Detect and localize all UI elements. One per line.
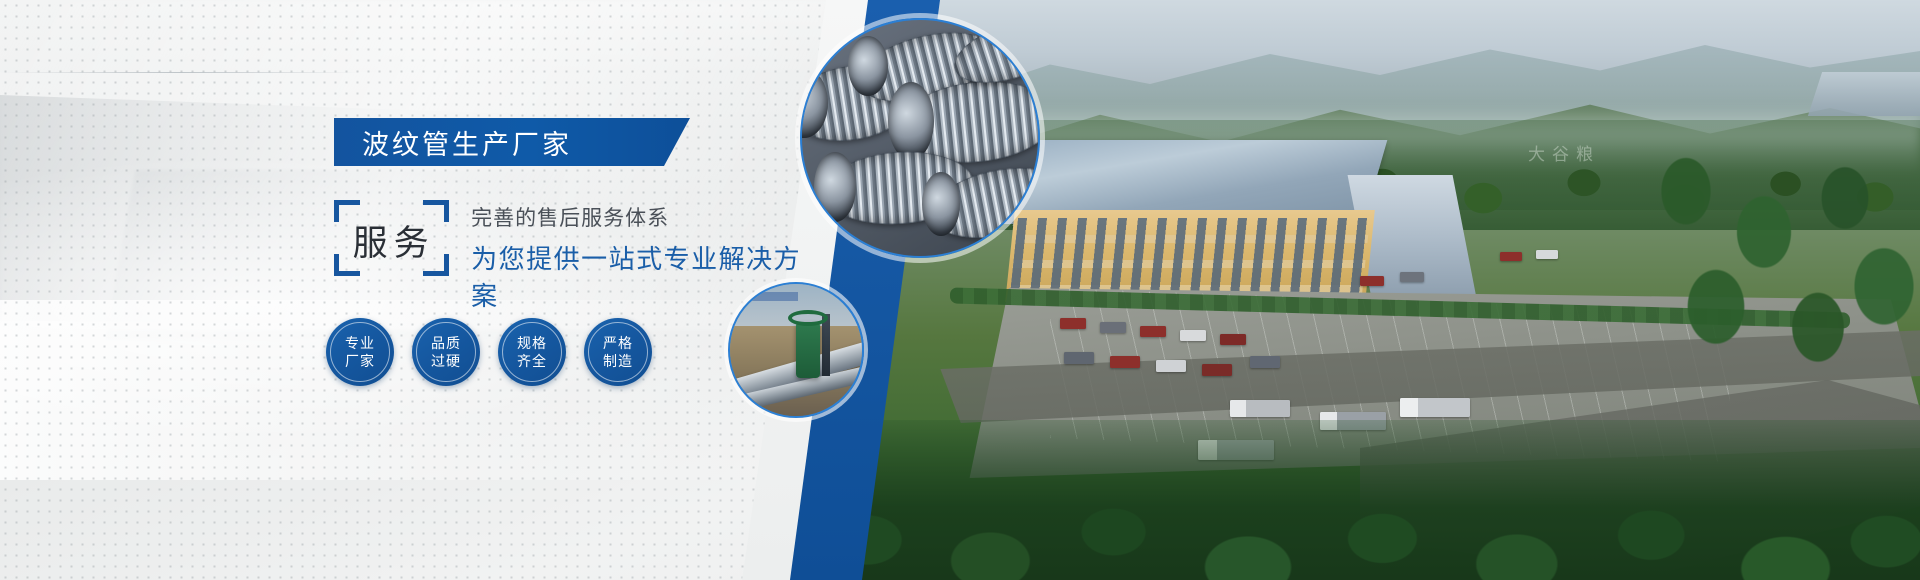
corrugated-pipe-opening [814, 152, 856, 222]
photo-vehicle [1156, 360, 1186, 372]
photo-vehicle [1110, 356, 1140, 368]
promo-banner: 大谷粮 波纹管生产厂家 [0, 0, 1920, 580]
corrugated-pipe-opening [888, 82, 934, 160]
badge-line-2: 齐全 [517, 352, 547, 370]
feature-badge-list: 专业 厂家 品质 过硬 规格 齐全 严格 制造 [326, 318, 652, 386]
photo-vehicle [1220, 334, 1246, 345]
badge-full-specifications[interactable]: 规格 齐全 [498, 318, 566, 386]
photo-right-trees [1620, 130, 1920, 470]
photo-truck [1400, 398, 1470, 417]
banner-title-bar: 波纹管生产厂家 [334, 118, 690, 166]
page-title: 波纹管生产厂家 [362, 123, 572, 162]
photo-truck [1230, 400, 1290, 417]
badge-strict-manufacturing[interactable]: 严格 制造 [584, 318, 652, 386]
valve-photo-post [822, 314, 830, 376]
service-block: 服务 完善的售后服务体系 为您提供一站式专业解决方案 [334, 196, 820, 313]
photo-vehicle [1500, 252, 1522, 261]
photo-vehicle [1100, 322, 1126, 333]
service-tagline: 为您提供一站式专业解决方案 [471, 239, 820, 313]
photo-vehicle [1140, 326, 1166, 337]
photo-vehicle [1360, 276, 1384, 286]
photo-warehouse [1808, 72, 1920, 116]
service-keyword: 服务 [353, 215, 435, 266]
photo-foreground-trees [800, 420, 1920, 580]
service-text-group: 完善的售后服务体系 为您提供一站式专业解决方案 [471, 196, 820, 313]
badge-line-1: 规格 [517, 334, 547, 352]
badge-line-1: 专业 [345, 334, 375, 352]
badge-line-1: 严格 [603, 334, 633, 352]
service-subtitle: 完善的售后服务体系 [471, 202, 820, 232]
corrugated-pipe-opening [922, 172, 960, 236]
badge-solid-quality[interactable]: 品质 过硬 [412, 318, 480, 386]
photo-vehicle [1064, 352, 1094, 364]
corrugated-pipe-opening [848, 36, 888, 96]
badge-line-2: 厂家 [345, 352, 375, 370]
badge-line-1: 品质 [431, 334, 461, 352]
badge-line-2: 过硬 [431, 352, 461, 370]
photo-vehicle [1060, 318, 1086, 329]
pipes-photo-circle [800, 18, 1040, 258]
photo-vehicle [1536, 250, 1558, 259]
photo-watermark: 大谷粮 [1528, 140, 1600, 165]
photo-vehicle [1202, 364, 1232, 376]
photo-vehicle [1180, 330, 1206, 341]
photo-factory-windows [1010, 218, 1370, 294]
banner-content: 波纹管生产厂家 服务 完善的售后服务体系 为您提供一站式专业解决方案 专业 厂家… [0, 0, 820, 580]
badge-professional-manufacturer[interactable]: 专业 厂家 [326, 318, 394, 386]
photo-vehicle [1400, 272, 1424, 282]
badge-line-2: 制造 [603, 352, 633, 370]
photo-vehicle [1250, 356, 1280, 368]
service-keyword-frame: 服务 [334, 196, 449, 280]
